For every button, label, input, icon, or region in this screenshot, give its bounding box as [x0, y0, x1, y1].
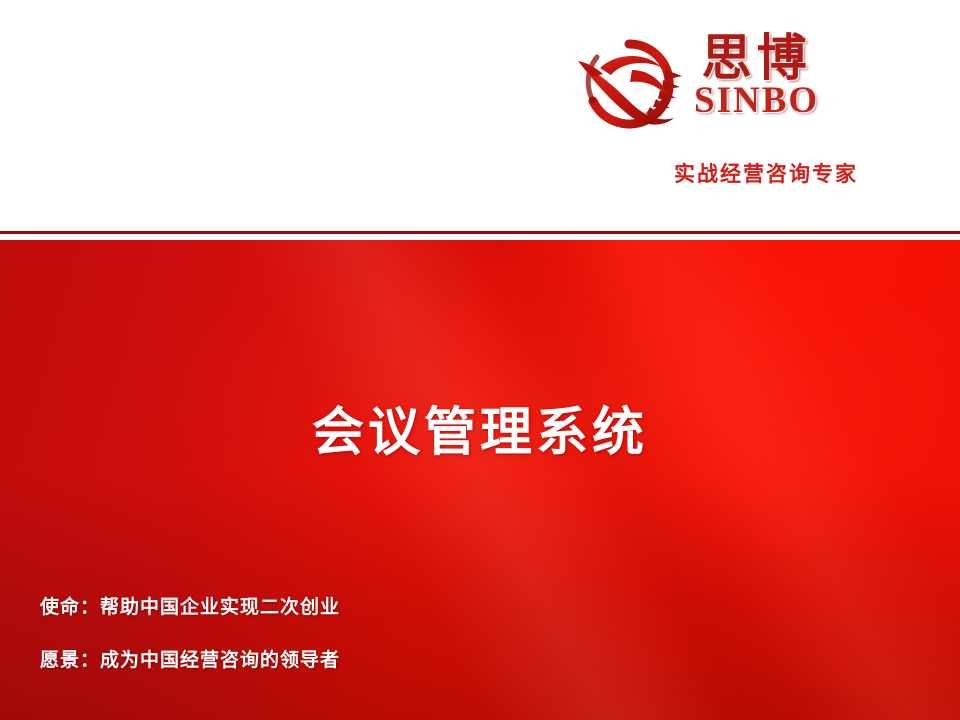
statements-block: 使命：帮助中国企业实现二次创业 愿景：成为中国经营咨询的领导者	[40, 592, 640, 672]
brand-tagline: 实战经营咨询专家	[674, 158, 858, 188]
slide-body: 会议管理系统 使命：帮助中国企业实现二次创业 愿景：成为中国经营咨询的领导者	[0, 240, 960, 720]
brand-name-cn: 思博	[694, 32, 819, 84]
logo-row: 思博 SINBO	[570, 30, 860, 148]
sinbo-phoenix-ring-icon	[570, 30, 688, 142]
brand-logo-block: 思博 SINBO 实战经营咨询专家	[570, 30, 860, 200]
mission-statement: 使命：帮助中国企业实现二次创业	[40, 592, 640, 619]
brand-name-en: SINBO	[694, 82, 819, 119]
brand-wordmark: 思博 SINBO	[694, 30, 819, 119]
presentation-slide: 思博 SINBO 实战经营咨询专家 会议管理系统 使命：帮助中国企业实现二次创业…	[0, 0, 960, 720]
slide-title: 会议管理系统	[0, 390, 960, 465]
slide-header: 思博 SINBO 实战经营咨询专家	[0, 0, 960, 232]
vision-statement: 愿景：成为中国经营咨询的领导者	[40, 645, 640, 672]
